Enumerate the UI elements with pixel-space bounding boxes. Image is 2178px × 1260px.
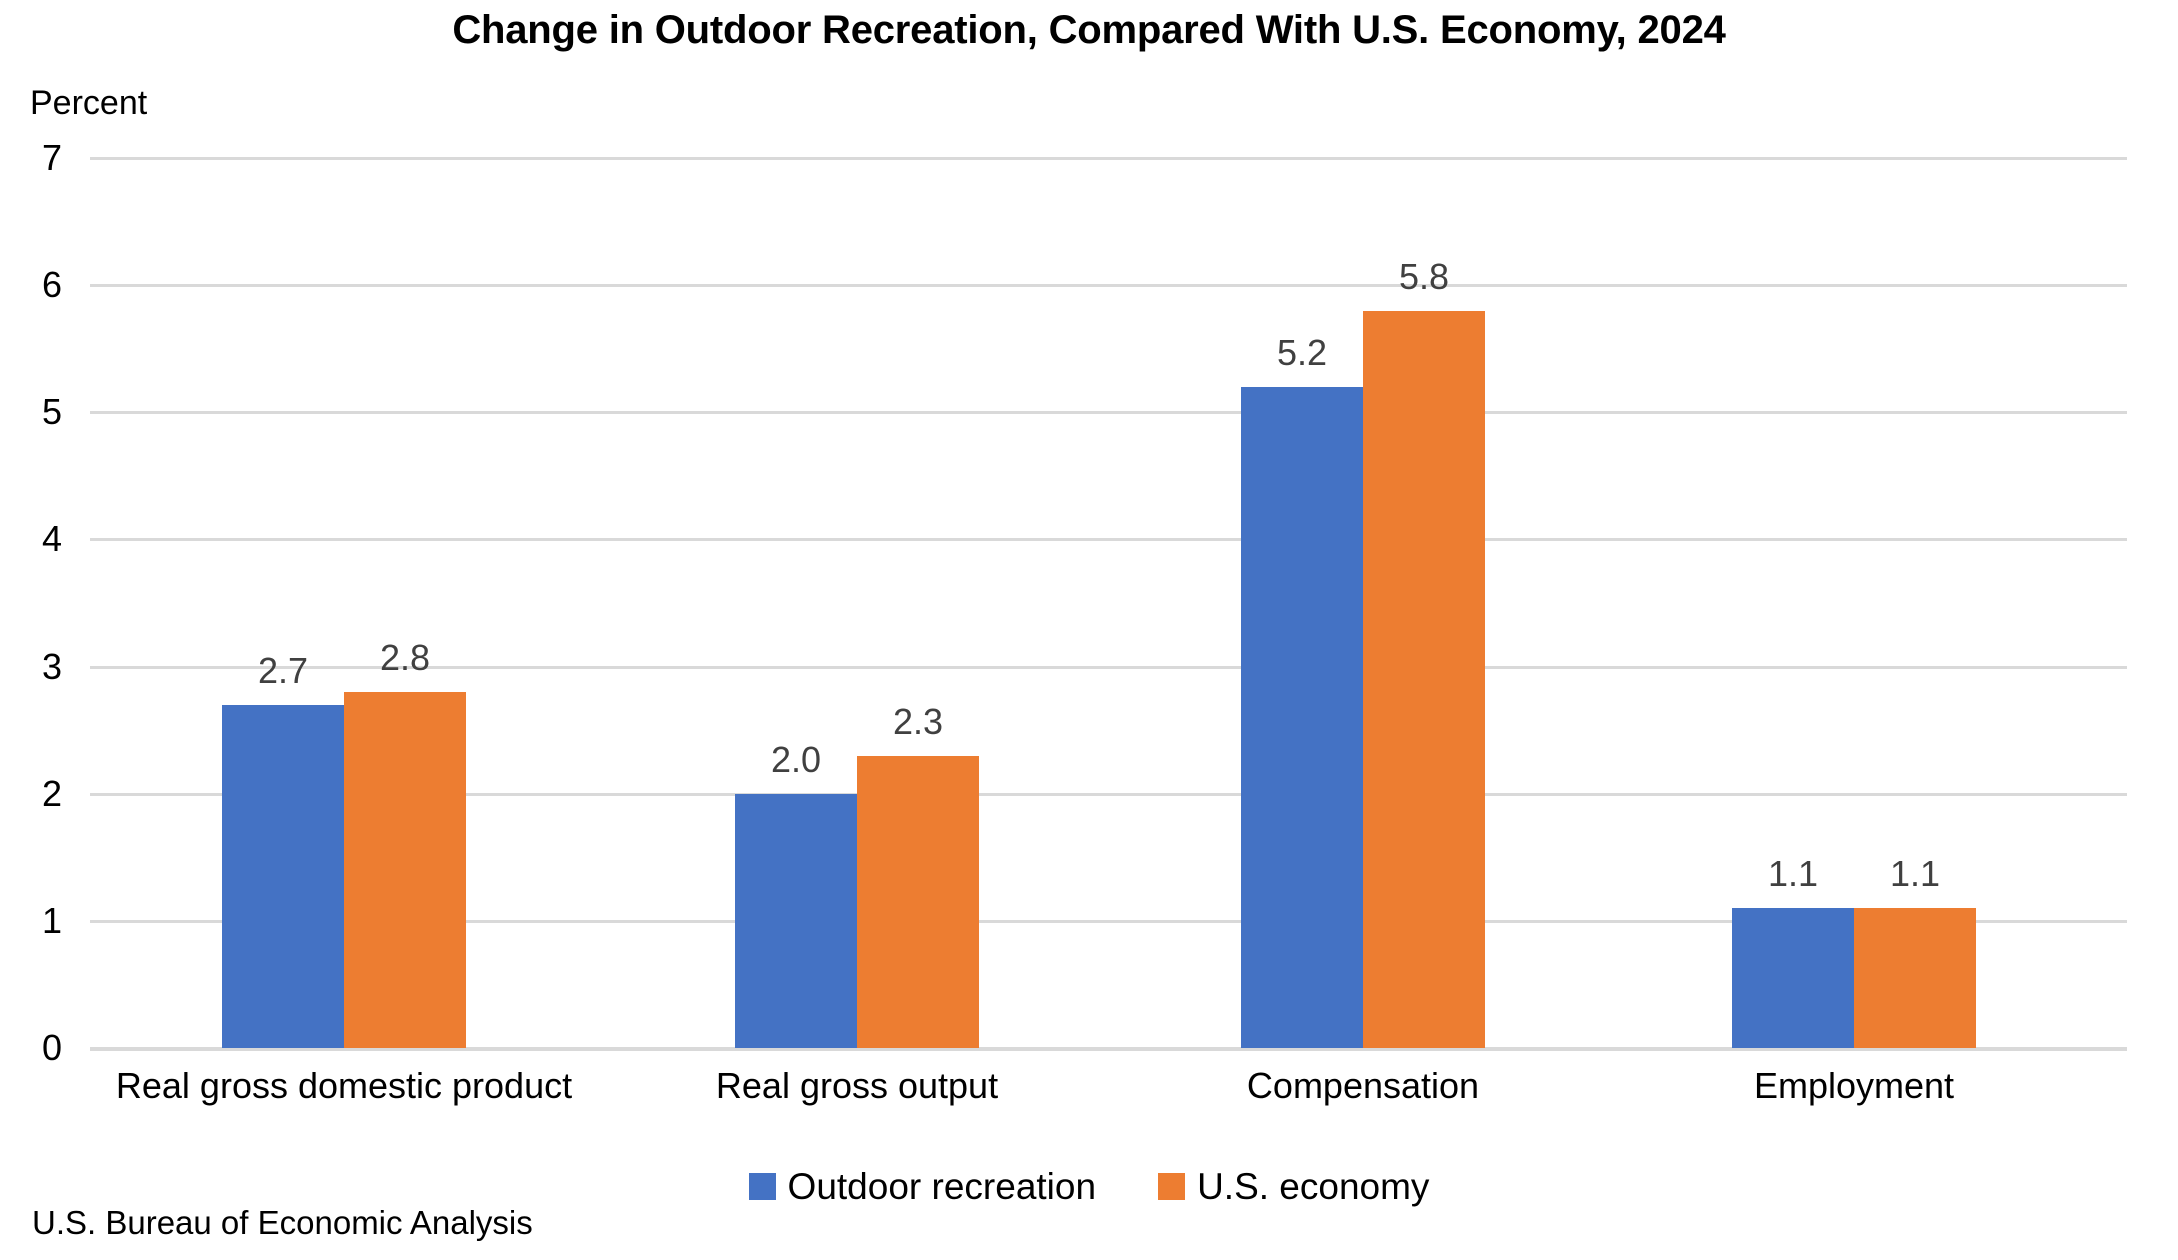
y-axis-tick-label: 3: [0, 649, 62, 685]
y-axis-tick-label: 6: [0, 267, 62, 303]
x-axis-tick-label: Employment: [1534, 1068, 2174, 1104]
bar-value-label: 2.8: [324, 640, 486, 676]
bar[interactable]: [735, 794, 857, 1048]
legend-label: U.S. economy: [1197, 1168, 1429, 1205]
legend-label: Outdoor recreation: [788, 1168, 1097, 1205]
gridline: [90, 538, 2127, 541]
bar-value-label: 2.3: [837, 704, 999, 740]
bar-chart: Change in Outdoor Recreation, Compared W…: [0, 0, 2178, 1260]
y-axis-tick-label: 7: [0, 140, 62, 176]
source-note: U.S. Bureau of Economic Analysis: [32, 1206, 533, 1239]
legend-swatch-icon: [1158, 1173, 1185, 1200]
chart-legend: Outdoor recreationU.S. economy: [0, 1168, 2178, 1205]
gridline: [90, 157, 2127, 160]
legend-item[interactable]: U.S. economy: [1158, 1168, 1429, 1205]
y-axis-tick-label: 4: [0, 521, 62, 557]
bar[interactable]: [857, 756, 979, 1048]
bar[interactable]: [1732, 908, 1854, 1048]
bar[interactable]: [1854, 908, 1976, 1048]
plot-area: 2.72.82.02.35.25.81.11.1: [90, 158, 2127, 1048]
bar-value-label: 5.8: [1343, 259, 1505, 295]
y-axis-tick-label: 1: [0, 903, 62, 939]
y-axis-tick-label: 5: [0, 394, 62, 430]
y-axis-unit-label: Percent: [30, 86, 147, 120]
bar-value-label: 5.2: [1221, 335, 1383, 371]
bar-value-label: 2.0: [715, 742, 877, 778]
y-axis-tick-label: 0: [0, 1030, 62, 1066]
bar[interactable]: [222, 705, 344, 1048]
chart-title: Change in Outdoor Recreation, Compared W…: [0, 8, 2178, 53]
gridline: [90, 411, 2127, 414]
bar-value-label: 1.1: [1834, 856, 1996, 892]
y-axis-tick-label: 2: [0, 776, 62, 812]
gridline: [90, 284, 2127, 287]
bar[interactable]: [1241, 387, 1363, 1048]
bar[interactable]: [344, 692, 466, 1048]
legend-item[interactable]: Outdoor recreation: [749, 1168, 1097, 1205]
bar[interactable]: [1363, 311, 1485, 1048]
legend-swatch-icon: [749, 1173, 776, 1200]
